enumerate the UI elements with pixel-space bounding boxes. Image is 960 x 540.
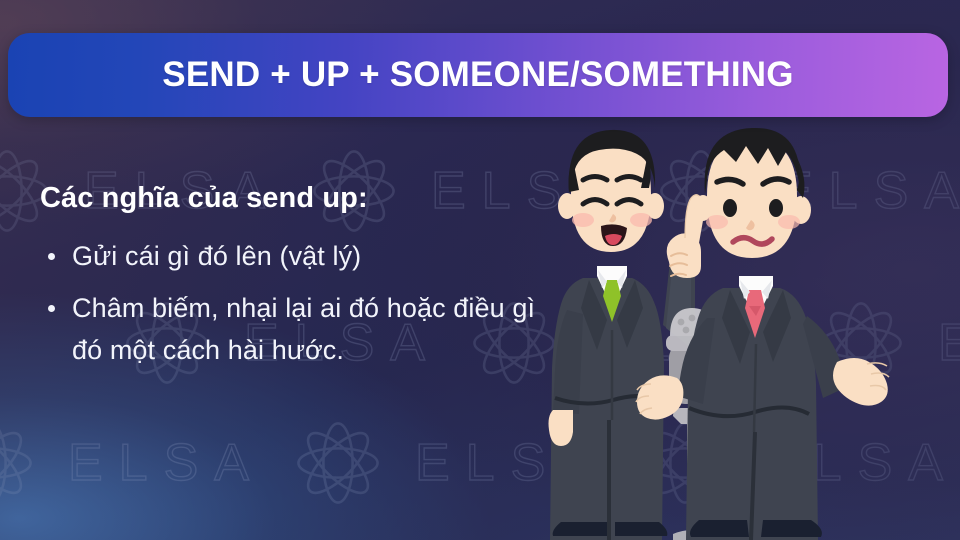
title-banner: SEND + UP + SOMEONE/SOMETHING xyxy=(8,33,948,117)
banner-title-text: SEND + UP + SOMEONE/SOMETHING xyxy=(162,55,793,95)
elsa-star-icon xyxy=(0,420,34,506)
list-item: Châm biếm, nhại lại ai đó hoặc điều gì đ… xyxy=(40,288,560,372)
list-item: Gửi cái gì đó lên (vật lý) xyxy=(40,236,560,278)
right-man-body xyxy=(677,276,849,540)
section-heading: Các nghĩa của send up: xyxy=(40,180,560,216)
right-man-open-hand-right xyxy=(833,358,889,406)
left-man-hand xyxy=(549,410,574,446)
meanings-list: Gửi cái gì đó lên (vật lý) Châm biếm, nh… xyxy=(40,236,560,372)
watermark-text: ELSA xyxy=(68,437,265,489)
right-man-head xyxy=(694,128,811,258)
elsa-star-icon xyxy=(295,420,381,506)
slide-canvas: ELSA ELSA xyxy=(0,0,960,540)
illustration-two-men-at-microphone xyxy=(545,120,960,540)
watermark-unit: ELSA xyxy=(0,420,265,506)
content-block: Các nghĩa của send up: Gửi cái gì đó lên… xyxy=(40,180,560,382)
left-man-head xyxy=(558,130,664,252)
